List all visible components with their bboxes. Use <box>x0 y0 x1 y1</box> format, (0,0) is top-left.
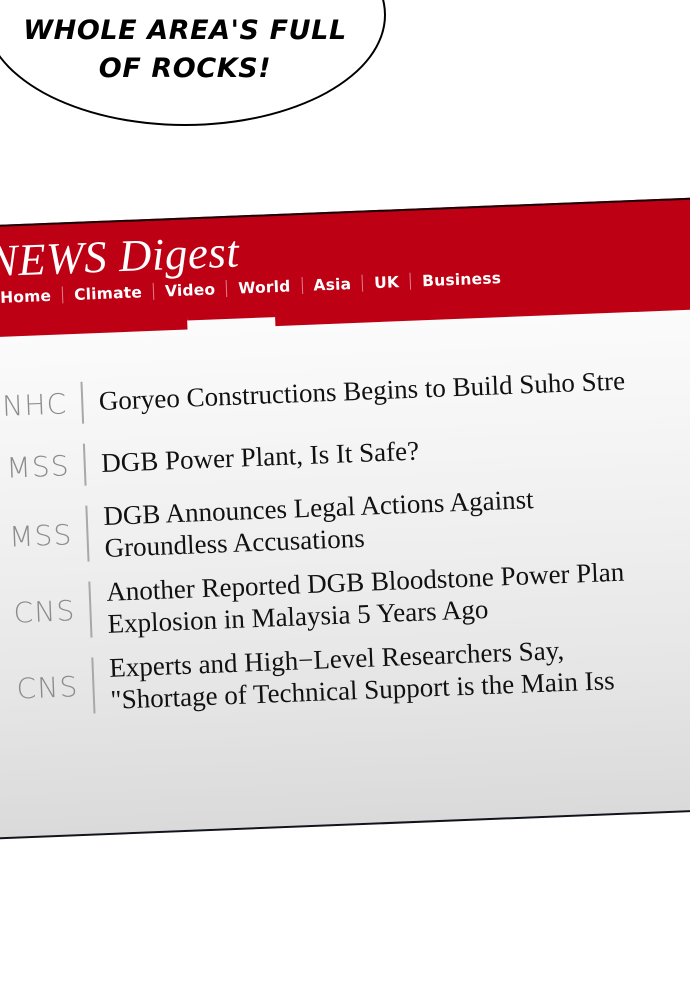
site-brand-title: NEWS Digest <box>0 225 240 287</box>
headline-source: MSS <box>0 449 70 486</box>
headline-title[interactable]: DGB Power Plant, Is It Safe? <box>101 423 690 479</box>
nav-item-asia[interactable]: Asia <box>302 276 362 296</box>
headline-source: MSS <box>0 518 73 555</box>
nav-item-business[interactable]: Business <box>411 270 513 291</box>
row-divider <box>83 444 86 486</box>
nav-item-video[interactable]: Video <box>154 281 227 301</box>
comic-panel-scene: WHOLE AREA'S FULL OF ROCKS! NEWS Digest … <box>0 0 690 1000</box>
row-divider <box>91 657 95 713</box>
speech-bubble: WHOLE AREA'S FULL OF ROCKS! <box>0 0 386 126</box>
headline-title[interactable]: Goryeo Constructions Begins to Build Suh… <box>98 361 690 417</box>
news-site-panel: NEWS Digest Home Climate Video World Asi… <box>0 196 690 847</box>
speech-bubble-text: WHOLE AREA'S FULL OF ROCKS! <box>0 0 384 124</box>
nav-item-home[interactable]: Home <box>0 288 63 308</box>
nav-item-climate[interactable]: Climate <box>63 284 154 305</box>
nav-item-uk[interactable]: UK <box>363 274 411 293</box>
row-divider <box>85 506 89 562</box>
news-site-surface: NEWS Digest Home Climate Video World Asi… <box>0 196 690 841</box>
headline-source: CNS <box>0 670 79 707</box>
headline-source: NHC <box>0 387 68 424</box>
row-divider <box>88 582 92 638</box>
row-divider <box>80 382 83 424</box>
nav-item-world[interactable]: World <box>227 279 302 299</box>
headline-list: NHC Goryeo Constructions Begins to Build… <box>0 346 690 729</box>
headline-source: CNS <box>0 594 76 631</box>
